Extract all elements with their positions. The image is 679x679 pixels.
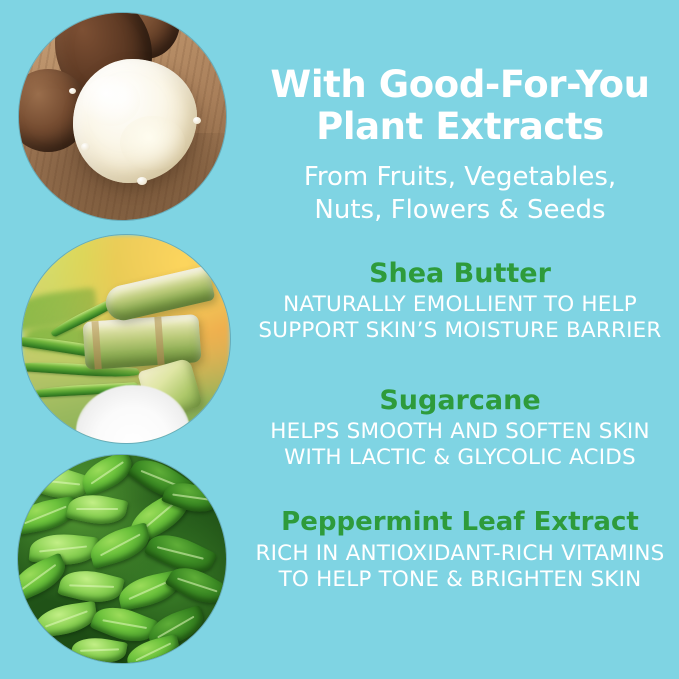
ingredient-description: HELPS SMOOTH AND SOFTEN SKIN WITH LACTIC… xyxy=(250,419,670,471)
ingredient-description: RICH IN ANTIOXIDANT-RICH VITAMINS TO HEL… xyxy=(250,541,670,593)
page-title: With Good-For-You Plant Extracts xyxy=(250,64,670,148)
sugarcane-photo xyxy=(22,235,230,443)
ingredient-title: Shea Butter xyxy=(250,258,670,289)
description-line-1: RICH IN ANTIOXIDANT-RICH VITAMINS xyxy=(250,541,670,567)
description-line-1: NATURALLY EMOLLIENT TO HELP xyxy=(250,292,670,318)
ingredient-title: Peppermint Leaf Extract xyxy=(250,507,670,538)
peppermint-photo xyxy=(18,455,226,663)
shea-butter-photo xyxy=(19,13,226,220)
text-column: With Good-For-You Plant Extracts From Fr… xyxy=(250,0,670,679)
butter-crumb xyxy=(69,88,76,94)
ingredient-block-shea-butter: Shea Butter NATURALLY EMOLLIENT TO HELP … xyxy=(250,258,670,344)
description-line-1: HELPS SMOOTH AND SOFTEN SKIN xyxy=(250,419,670,445)
description-line-2: WITH LACTIC & GLYCOLIC ACIDS xyxy=(250,445,670,471)
ingredient-block-sugarcane: Sugarcane HELPS SMOOTH AND SOFTEN SKIN W… xyxy=(250,385,670,471)
ingredient-title: Sugarcane xyxy=(250,385,670,416)
headline-line-2: Plant Extracts xyxy=(250,106,670,148)
headline-line-1: With Good-For-You xyxy=(250,64,670,106)
description-line-2: TO HELP TONE & BRIGHTEN SKIN xyxy=(250,567,670,593)
butter-crumb xyxy=(137,177,147,185)
stalk-node xyxy=(155,317,165,365)
subheadline-line-1: From Fruits, Vegetables, xyxy=(250,161,670,194)
ingredient-block-peppermint-leaf-extract: Peppermint Leaf Extract RICH IN ANTIOXID… xyxy=(250,507,670,593)
ingredient-description: NATURALLY EMOLLIENT TO HELP SUPPORT SKIN… xyxy=(250,292,670,344)
ingredient-benefits-infographic: With Good-For-You Plant Extracts From Fr… xyxy=(0,0,679,679)
stalk-node xyxy=(92,321,102,369)
page-subtitle: From Fruits, Vegetables, Nuts, Flowers &… xyxy=(250,161,670,227)
subheadline-line-2: Nuts, Flowers & Seeds xyxy=(250,194,670,227)
description-line-2: SUPPORT SKIN’S MOISTURE BARRIER xyxy=(250,318,670,344)
butter-crumb xyxy=(193,117,201,124)
